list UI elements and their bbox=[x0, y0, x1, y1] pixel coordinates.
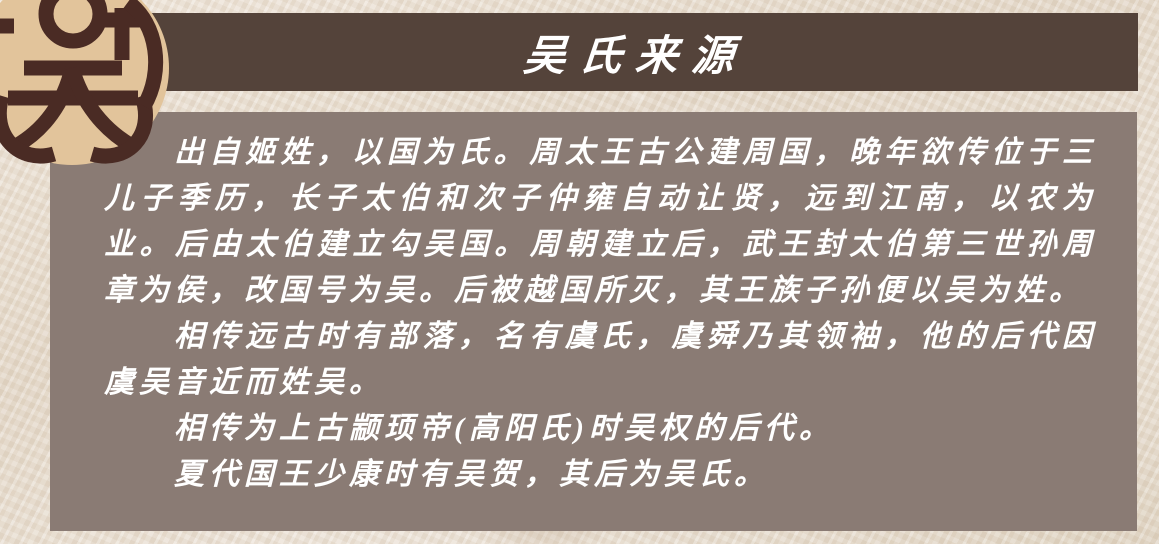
title-banner: 吴氏来源 bbox=[121, 13, 1138, 91]
wu-clan-seal-icon bbox=[0, 0, 172, 168]
paragraph-3: 相传为上古颛顼帝(高阳氏)时吴权的后代。 bbox=[104, 406, 1097, 452]
paragraph-1: 出自姬姓，以国为氏。周太王古公建周国，晚年欲传位于三儿子季历，长子太伯和次子仲雍… bbox=[104, 130, 1097, 314]
body-text-block: 出自姬姓，以国为氏。周太王古公建周国，晚年欲传位于三儿子季历，长子太伯和次子仲雍… bbox=[104, 130, 1097, 498]
paragraph-2: 相传远古时有部落，名有虞氏，虞舜乃其领袖，他的后代因虞吴音近而姓吴。 bbox=[104, 314, 1097, 406]
paragraph-4: 夏代国王少康时有吴贺，其后为吴氏。 bbox=[104, 452, 1097, 498]
poster-root: 吴氏来源 出自姬姓，以国为氏。周太王古公建周国，晚年欲传位于三儿子季历，长子太伯… bbox=[0, 0, 1159, 544]
page-title: 吴氏来源 bbox=[508, 22, 751, 83]
content-panel: 出自姬姓，以国为氏。周太王古公建周国，晚年欲传位于三儿子季历，长子太伯和次子仲雍… bbox=[50, 112, 1137, 531]
